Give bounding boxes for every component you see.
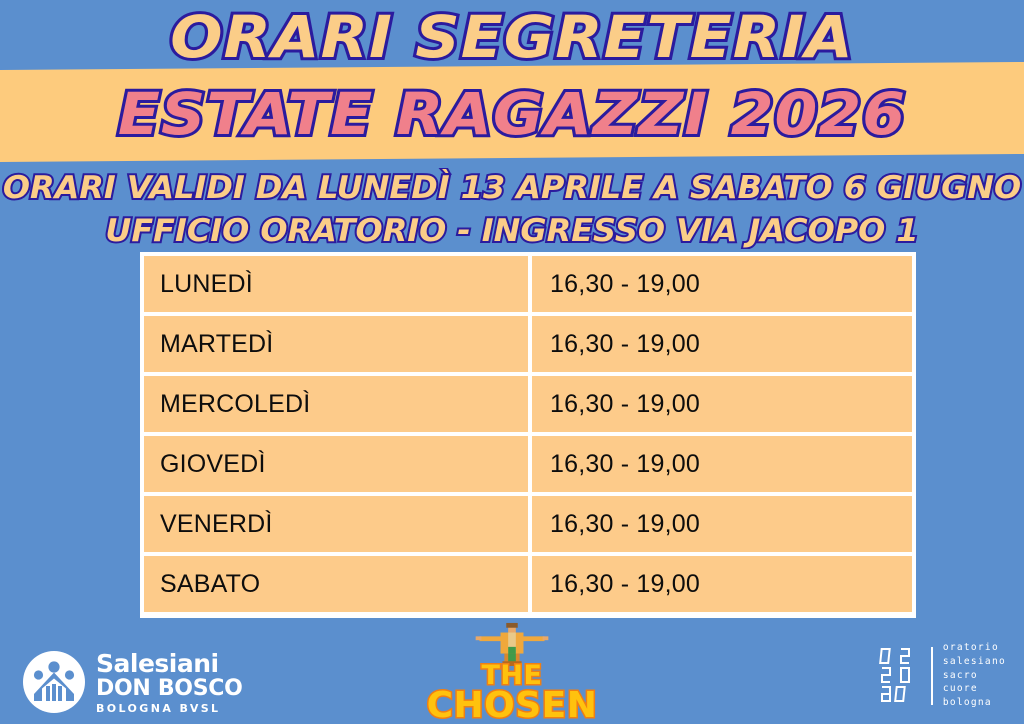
table-cell-time: 16,30 - 19,00 [532,436,912,492]
day-label: GIOVEDÌ [160,450,266,479]
table-cell-day: GIOVEDÌ [144,436,528,492]
poster-subtitle-line-1: ORARI VALIDI DA LUNEDÌ 13 APRILE A SABAT… [0,173,1024,204]
table-row: MARTEDÌ 16,30 - 19,00 [144,316,912,372]
table-cell-time: 16,30 - 19,00 [532,496,912,552]
salesiani-line-2: DON BOSCO [96,678,243,700]
table-cell-day: LUNEDÌ [144,256,528,312]
chosen-word-chosen: CHOSEN [427,689,598,722]
table-row: LUNEDÌ 16,30 - 19,00 [144,256,912,312]
day-label: LUNEDÌ [160,270,253,299]
osscbo-word-5: bologna [943,696,1006,710]
salesiani-family-circle-icon [22,650,86,714]
table-cell-time: 16,30 - 19,00 [532,316,912,372]
osscbo-monogram-icon [879,646,921,706]
salesiani-don-bosco-logo: Salesiani DON BOSCO BOLOGNA BVSL [22,650,243,714]
footer-logos: Salesiani DON BOSCO BOLOGNA BVSL THE [0,624,1024,724]
poster-title-line-2: ESTATE RAGAZZI 2026 [0,85,1024,143]
time-label: 16,30 - 19,00 [550,270,700,299]
time-label: 16,30 - 19,00 [550,510,700,539]
table-row: MERCOLEDÌ 16,30 - 19,00 [144,376,912,432]
salesiani-line-1: Salesiani [96,651,243,676]
time-label: 16,30 - 19,00 [550,450,700,479]
table-cell-time: 16,30 - 19,00 [532,556,912,612]
osscbo-word-4: cuore [943,682,1006,696]
table-row: VENERDÌ 16,30 - 19,00 [144,496,912,552]
the-chosen-logo: THE CHOSEN [437,622,587,722]
osscbo-word-3: sacro [943,669,1006,683]
time-label: 16,30 - 19,00 [550,570,700,599]
poster-canvas: ORARI SEGRETERIA ESTATE RAGAZZI 2026 ORA… [0,0,1024,724]
header-titles: ORARI SEGRETERIA ESTATE RAGAZZI 2026 [0,0,1024,162]
table-cell-day: MARTEDÌ [144,316,528,372]
table-cell-time: 16,30 - 19,00 [532,376,912,432]
salesiani-wordmark: Salesiani DON BOSCO BOLOGNA BVSL [96,651,243,714]
time-label: 16,30 - 19,00 [550,390,700,419]
poster-subtitle-line-2: UFFICIO ORATORIO - INGRESSO VIA JACOPO 1 [0,216,1024,247]
osscbo-word-1: oratorio [943,641,1006,655]
day-label: MARTEDÌ [160,330,273,359]
table-cell-day: MERCOLEDÌ [144,376,528,432]
osscbo-word-2: salesiano [943,655,1006,669]
day-label: SABATO [160,570,260,599]
table-row: GIOVEDÌ 16,30 - 19,00 [144,436,912,492]
table-cell-day: SABATO [144,556,528,612]
schedule-table: LUNEDÌ 16,30 - 19,00 MARTEDÌ 16,30 - 19,… [140,252,916,618]
day-label: VENERDÌ [160,510,273,539]
salesiani-line-3: BOLOGNA BVSL [96,703,243,714]
table-cell-time: 16,30 - 19,00 [532,256,912,312]
osscbo-divider [931,647,933,705]
day-label: MERCOLEDÌ [160,390,310,419]
time-label: 16,30 - 19,00 [550,330,700,359]
table-row: SABATO 16,30 - 19,00 [144,556,912,612]
osscbo-wordmark: oratorio salesiano sacro cuore bologna [943,641,1006,710]
poster-title-line-1: ORARI SEGRETERIA [0,8,1024,66]
table-cell-day: VENERDÌ [144,496,528,552]
osscbo-logo: oratorio salesiano sacro cuore bologna [879,641,1006,710]
